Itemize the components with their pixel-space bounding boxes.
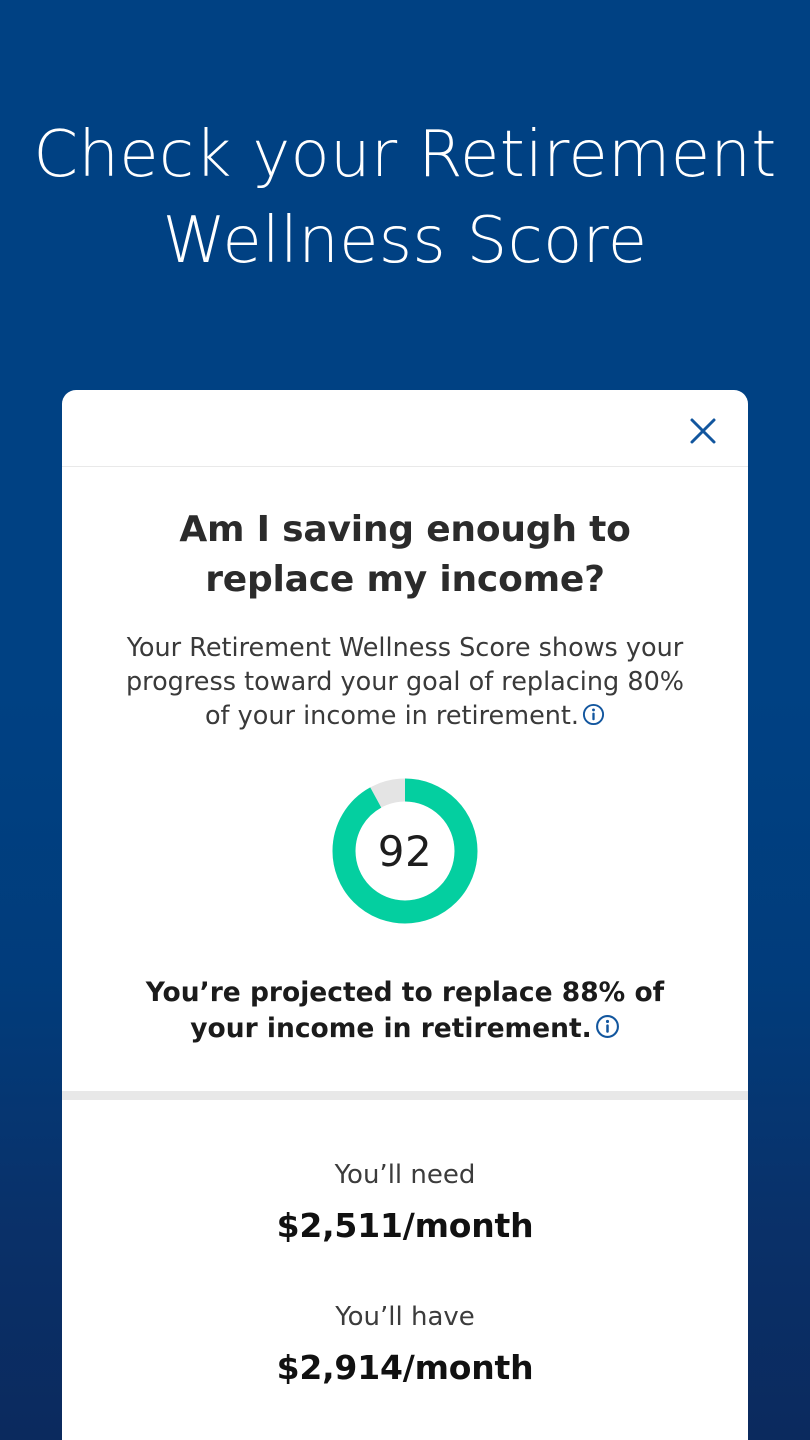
info-icon[interactable]: [595, 1014, 620, 1039]
figures-section: You’ll need $2,511/month You’ll have $2,…: [62, 1100, 748, 1390]
figure-have: You’ll have $2,914/month: [62, 1300, 748, 1390]
gauge-donut: 92: [332, 778, 478, 924]
question-title: Am I saving enough to replace my income?: [102, 505, 708, 605]
wellness-score-gauge: 92: [102, 775, 708, 927]
modal-header: [62, 390, 748, 467]
hero-heading-line-2: Wellness Score: [26, 198, 784, 284]
figure-label: You’ll have: [62, 1300, 748, 1334]
info-icon[interactable]: [582, 703, 605, 726]
projection-statement-text: You’re projected to replace 88% of your …: [146, 977, 664, 1044]
hero-heading-line-1: Check your Retirement: [26, 112, 784, 198]
close-icon[interactable]: [680, 408, 726, 454]
figure-label: You’ll need: [62, 1158, 748, 1192]
figure-need: You’ll need $2,511/month: [62, 1158, 748, 1248]
section-divider: [62, 1091, 748, 1100]
figure-value: $2,914/month: [62, 1346, 748, 1390]
modal-body: Am I saving enough to replace my income?…: [62, 467, 748, 1047]
figure-value: $2,511/month: [62, 1204, 748, 1248]
hero-heading: Check your Retirement Wellness Score: [0, 112, 810, 284]
score-description: Your Retirement Wellness Score shows you…: [102, 631, 708, 733]
gauge-score-value: 92: [332, 778, 478, 924]
projection-statement: You’re projected to replace 88% of your …: [102, 975, 708, 1047]
retirement-score-modal: Am I saving enough to replace my income?…: [62, 390, 748, 1440]
